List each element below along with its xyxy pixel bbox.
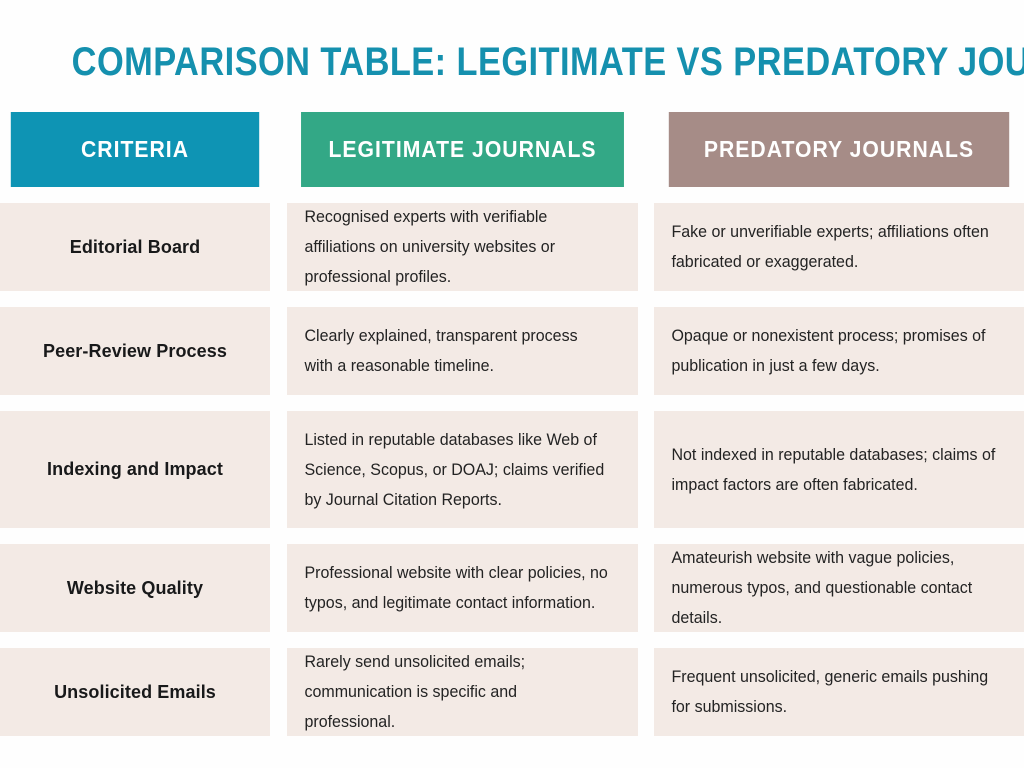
row-criteria-label: Peer-Review Process xyxy=(0,307,270,395)
row-predatory-cell: Frequent unsolicited, generic emails pus… xyxy=(654,648,1024,736)
row-legitimate-text: Clearly explained, transparent process w… xyxy=(287,321,627,381)
table-row: Peer-Review Process Clearly explained, t… xyxy=(0,307,1024,395)
row-predatory-text: Not indexed in reputable databases; clai… xyxy=(654,440,1013,500)
row-predatory-cell: Opaque or nonexistent process; promises … xyxy=(654,307,1024,395)
header-cell-criteria: CRITERIA xyxy=(0,112,270,187)
row-legitimate-text: Rarely send unsolicited emails; communic… xyxy=(287,647,627,737)
row-legitimate-cell: Professional website with clear policies… xyxy=(287,544,638,632)
header-label-predatory: PREDATORY JOURNALS xyxy=(669,112,1009,187)
header-label-criteria: CRITERIA xyxy=(11,112,259,187)
row-predatory-text: Frequent unsolicited, generic emails pus… xyxy=(654,662,1013,722)
header-cell-legitimate: LEGITIMATE JOURNALS xyxy=(287,112,638,187)
header-cell-predatory: PREDATORY JOURNALS xyxy=(654,112,1024,187)
row-predatory-cell: Not indexed in reputable databases; clai… xyxy=(654,411,1024,528)
table-row: Indexing and Impact Listed in reputable … xyxy=(0,411,1024,528)
row-legitimate-cell: Rarely send unsolicited emails; communic… xyxy=(287,648,638,736)
row-criteria-label: Unsolicited Emails xyxy=(0,648,270,736)
row-legitimate-text: Listed in reputable databases like Web o… xyxy=(287,425,627,515)
page-title: Comparison Table: Legitimate vs Predator… xyxy=(72,38,953,86)
row-legitimate-text: Professional website with clear policies… xyxy=(287,558,627,618)
row-legitimate-text: Recognised experts with verifiable affil… xyxy=(287,202,627,292)
row-legitimate-cell: Listed in reputable databases like Web o… xyxy=(287,411,638,528)
row-criteria-label: Editorial Board xyxy=(0,203,270,291)
row-predatory-cell: Amateurish website with vague policies, … xyxy=(654,544,1024,632)
table-row: Website Quality Professional website wit… xyxy=(0,544,1024,632)
row-predatory-text: Amateurish website with vague policies, … xyxy=(654,543,1013,633)
row-predatory-text: Opaque or nonexistent process; promises … xyxy=(654,321,1013,381)
row-predatory-cell: Fake or unverifiable experts; affiliatio… xyxy=(654,203,1024,291)
row-legitimate-cell: Clearly explained, transparent process w… xyxy=(287,307,638,395)
row-criteria-label: Indexing and Impact xyxy=(0,411,270,528)
table-row: Unsolicited Emails Rarely send unsolicit… xyxy=(0,648,1024,736)
row-legitimate-cell: Recognised experts with verifiable affil… xyxy=(287,203,638,291)
table-header-row: CRITERIA LEGITIMATE JOURNALS PREDATORY J… xyxy=(0,112,1024,187)
header-label-legitimate: LEGITIMATE JOURNALS xyxy=(301,112,624,187)
comparison-table-poster: Comparison Table: Legitimate vs Predator… xyxy=(0,0,1024,768)
row-criteria-label: Website Quality xyxy=(0,544,270,632)
comparison-table: CRITERIA LEGITIMATE JOURNALS PREDATORY J… xyxy=(0,112,1024,752)
row-predatory-text: Fake or unverifiable experts; affiliatio… xyxy=(654,217,1013,277)
table-row: Editorial Board Recognised experts with … xyxy=(0,203,1024,291)
